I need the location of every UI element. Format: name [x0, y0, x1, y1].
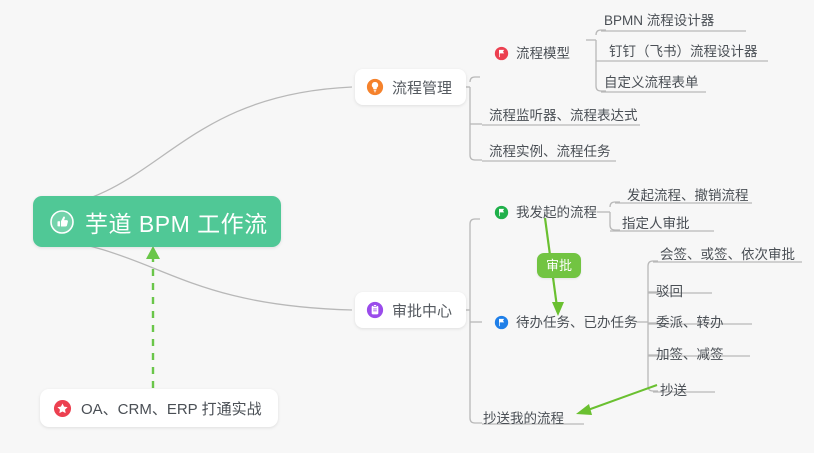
leaf-label-instance-task: 流程实例、流程任务	[489, 145, 611, 159]
leaf-dingtalk-designer[interactable]: 钉钉（飞书）流程设计器	[609, 45, 758, 59]
tag-approve-label: 审批	[546, 258, 572, 273]
flag-icon	[494, 46, 509, 61]
leaf-label-add-remove-sign: 加签、减签	[656, 348, 724, 362]
leaf-label-my-started: 我发起的流程	[516, 206, 597, 220]
flag-icon	[494, 315, 509, 330]
root-node[interactable]: 芋道 BPM 工作流	[33, 196, 281, 247]
leaf-label-delegate-transfer: 委派、转办	[656, 316, 724, 330]
leaf-label-dingtalk-designer: 钉钉（飞书）流程设计器	[609, 45, 758, 59]
free-node-label: OA、CRM、ERP 打通实战	[81, 398, 262, 419]
leaf-custom-form[interactable]: 自定义流程表单	[604, 76, 699, 90]
thumbs-up-icon	[50, 210, 74, 234]
leaf-reject[interactable]: 驳回	[656, 285, 683, 299]
clipboard-icon	[366, 301, 384, 319]
leaf-multi-sign[interactable]: 会签、或签、依次审批	[660, 248, 795, 262]
leaf-label-reject: 驳回	[656, 285, 683, 299]
leaf-instance-task[interactable]: 流程实例、流程任务	[489, 145, 611, 159]
branch-label-approve-center: 审批中心	[392, 300, 452, 321]
leaf-label-custom-form: 自定义流程表单	[604, 76, 699, 90]
branch-node-approve-center[interactable]: 审批中心	[355, 292, 466, 328]
star-icon	[53, 399, 72, 418]
root-node-label: 芋道 BPM 工作流	[85, 205, 268, 239]
leaf-label-todo-done: 待办任务、已办任务	[516, 316, 638, 330]
leaf-todo-done[interactable]: 待办任务、已办任务	[494, 315, 638, 330]
leaf-delegate-transfer[interactable]: 委派、转办	[656, 316, 724, 330]
leaf-my-started[interactable]: 我发起的流程	[494, 205, 597, 220]
leaf-add-remove-sign[interactable]: 加签、减签	[656, 348, 724, 362]
branch-label-process-mgmt: 流程管理	[392, 77, 452, 98]
leaf-label-start-cancel: 发起流程、撤销流程	[627, 189, 749, 203]
leaf-cc-to-me[interactable]: 抄送我的流程	[483, 412, 564, 426]
leaf-assignee-approve[interactable]: 指定人审批	[622, 217, 690, 231]
link-root-to-process-mgmt	[36, 87, 352, 210]
link-ac-to-ccme	[470, 418, 482, 423]
lightbulb-icon	[366, 78, 384, 96]
link-ms-to-assignee	[610, 225, 620, 230]
leaf-bpmn-designer[interactable]: BPMN 流程设计器	[604, 14, 714, 28]
link-ac-to-mystarted	[470, 219, 480, 224]
flag-icon	[494, 205, 509, 220]
leaf-label-assignee-approve: 指定人审批	[622, 217, 690, 231]
leaf-label-process-model: 流程模型	[516, 47, 570, 61]
arrow-oa-to-root	[146, 246, 160, 388]
link-todo-to-cc	[648, 386, 658, 391]
mindmap-canvas: 芋道 BPM 工作流 流程管理 流程模型 BPMN 流程设计器 钉钉（飞书）流程…	[0, 0, 814, 453]
leaf-label-cc-to-me: 抄送我的流程	[483, 412, 564, 426]
leaf-listener-expression[interactable]: 流程监听器、流程表达式	[489, 109, 638, 123]
leaf-label-listener-expression: 流程监听器、流程表达式	[489, 109, 638, 123]
leaf-start-cancel[interactable]: 发起流程、撤销流程	[627, 189, 749, 203]
leaf-process-model[interactable]: 流程模型	[494, 46, 570, 61]
tag-approve[interactable]: 审批	[537, 253, 581, 278]
free-node-oa-crm-erp[interactable]: OA、CRM、ERP 打通实战	[40, 389, 278, 427]
leaf-label-multi-sign: 会签、或签、依次审批	[660, 248, 795, 262]
link-model-to-bpmn	[596, 30, 606, 35]
leaf-label-bpmn-designer: BPMN 流程设计器	[604, 14, 714, 28]
link-todo-to-multisign	[648, 261, 658, 266]
leaf-cc[interactable]: 抄送	[660, 384, 687, 398]
link-root-to-approve-center	[36, 236, 352, 310]
leaf-label-cc: 抄送	[660, 384, 687, 398]
link-ms-to-start	[610, 202, 620, 207]
link-pm-to-model	[470, 77, 480, 82]
branch-node-process-mgmt[interactable]: 流程管理	[355, 69, 466, 105]
link-pm-to-instance	[470, 155, 482, 160]
arrow-cc-to-ccme	[576, 385, 657, 415]
